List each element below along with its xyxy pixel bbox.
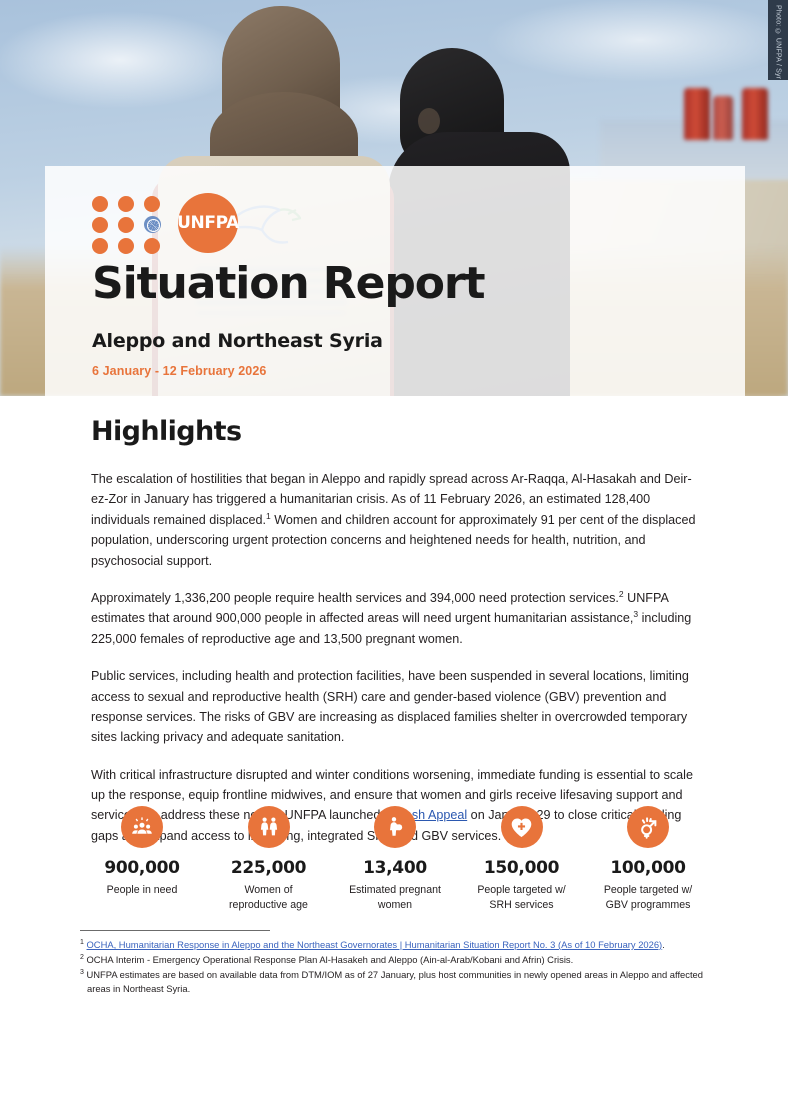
footnote-marker: 3 [80, 969, 84, 976]
logo-dot [92, 196, 108, 212]
stat-label: People targeted w/SRH services [460, 883, 584, 914]
two-women-icon [248, 806, 290, 848]
main-content: Highlights The escalation of hostilities… [91, 416, 697, 846]
highlight-paragraph: The escalation of hostilities that began… [91, 469, 697, 571]
stat-card: 150,000People targeted w/SRH services [460, 806, 584, 914]
logo-dot [92, 217, 108, 233]
highlight-paragraph: Approximately 1,336,200 people require h… [91, 588, 697, 649]
statistics-row: 900,000People in need225,000Women ofrepr… [80, 806, 710, 914]
highlights-paragraphs: The escalation of hostilities that began… [91, 469, 697, 846]
hero-barrel [742, 88, 768, 140]
logo-dot [118, 238, 134, 254]
footnote-item: 3 UNFPA estimates are based on available… [80, 968, 705, 996]
unfpa-wordmark: UNFPA [177, 213, 239, 233]
logo-dot-grid [92, 196, 172, 250]
unfpa-logo: UNFPA [92, 193, 262, 253]
stat-label: Women ofreproductive age [207, 883, 331, 914]
stat-value: 900,000 [80, 858, 204, 878]
stat-value: 225,000 [207, 858, 331, 878]
logo-dot [118, 196, 134, 212]
footnote-item: 1 OCHA, Humanitarian Response in Aleppo … [80, 938, 705, 952]
page-subtitle: Aleppo and Northeast Syria [92, 330, 383, 352]
pregnant-woman-icon [374, 806, 416, 848]
stat-label: Estimated pregnantwomen [333, 883, 457, 914]
footnote-item: 2 OCHA Interim - Emergency Operational R… [80, 953, 705, 967]
photo-credit: Photo: © UNFPA / Syr [768, 0, 788, 80]
situation-report-page: Photo: © UNFPA / Syr UNFPA Situation Rep… [0, 0, 788, 1100]
footnote-reference[interactable]: 1 [266, 511, 271, 521]
page-title: Situation Report [92, 262, 484, 306]
logo-dot [118, 217, 134, 233]
hero-barrel [684, 88, 710, 140]
report-date-range: 6 January - 12 February 2026 [92, 364, 266, 378]
stat-value: 150,000 [460, 858, 584, 878]
logo-dot [144, 238, 160, 254]
highlight-paragraph: Public services, including health and pr… [91, 666, 697, 748]
footnote-marker: 2 [80, 954, 84, 961]
hero-figure-woman-face [418, 108, 440, 134]
stat-card: 13,400Estimated pregnantwomen [333, 806, 457, 914]
footnote-separator [80, 930, 270, 931]
stat-label: People in need [80, 883, 204, 898]
footnote-link[interactable]: OCHA, Humanitarian Response in Aleppo an… [87, 939, 663, 950]
stat-value: 100,000 [586, 858, 710, 878]
section-title-highlights: Highlights [91, 416, 697, 447]
stat-card: 900,000People in need [80, 806, 204, 914]
stat-card: 225,000Women ofreproductive age [207, 806, 331, 914]
people-group-icon [121, 806, 163, 848]
footnotes-list: 1 OCHA, Humanitarian Response in Aleppo … [80, 938, 705, 997]
hero-barrel [713, 96, 733, 140]
gender-symbol-icon [627, 806, 669, 848]
footnote-reference[interactable]: 2 [619, 589, 624, 599]
logo-dot [144, 196, 160, 212]
footnote-reference[interactable]: 3 [633, 609, 638, 619]
logo-dot [92, 238, 108, 254]
heart-plus-icon [501, 806, 543, 848]
un-emblem-icon [144, 216, 161, 233]
photo-credit-text: Photo: © UNFPA / Syr [775, 5, 782, 79]
stat-value: 13,400 [333, 858, 457, 878]
title-card: UNFPA Situation Report Aleppo and Northe… [45, 166, 745, 396]
stat-card: 100,000People targeted w/GBV programmes [586, 806, 710, 914]
unfpa-wordmark-badge: UNFPA [178, 193, 238, 253]
stat-label: People targeted w/GBV programmes [586, 883, 710, 914]
footnote-marker: 1 [80, 939, 84, 946]
